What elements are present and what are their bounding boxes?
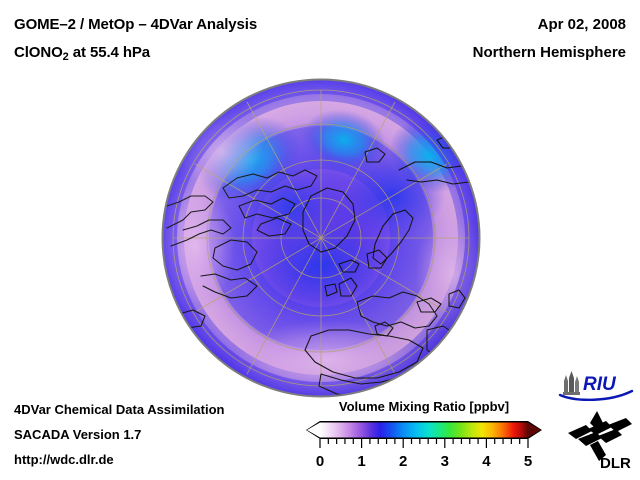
footer-line-url[interactable]: http://wdc.dlr.de [14,452,114,467]
riu-towers-icon [563,371,580,395]
riu-logo-svg: RIU [558,369,634,403]
dlr-logo: DLR [566,409,636,471]
colorbar-tick-label: 0 [316,453,324,470]
colorbar-title: Volume Mixing Ratio [ppbv] [304,399,544,414]
colorbar-left-arrow [307,423,320,438]
dlr-mark-icon [568,411,632,461]
globe-svg [161,78,481,398]
colorbar-tick-label: 5 [524,453,532,470]
riu-logo: RIU [558,369,634,403]
footer-line-version: SACADA Version 1.7 [14,427,141,442]
globe-map [161,78,481,398]
species-name: ClONO [14,44,63,61]
hemisphere-label: Northern Hemisphere [473,44,626,61]
colorbar: Volume Mixing Ratio [ppbv] 012345 [304,399,544,475]
page-title: GOME–2 / MetOp – 4DVar Analysis [14,16,257,33]
dlr-logo-svg: DLR [566,409,636,471]
species-subscript: 2 [63,51,69,63]
globe-shading [163,80,479,396]
colorbar-right-arrow [528,423,541,438]
colorbar-tick-label: 4 [482,453,491,470]
colorbar-tick-labels: 012345 [316,453,532,470]
species-level-label: ClONO2 at 55.4 hPa [14,44,150,61]
dlr-wordmark: DLR [600,455,631,471]
colorbar-tick-label: 1 [357,453,365,470]
colorbar-gradient-bar [320,423,528,438]
footer-line-assimilation: 4DVar Chemical Data Assimilation [14,402,225,417]
species-level: at 55.4 hPa [69,44,150,61]
colorbar-tick-label: 3 [441,453,449,470]
colorbar-ticks [320,439,528,448]
date-label: Apr 02, 2008 [538,16,626,33]
colorbar-svg: 012345 [304,419,544,475]
riu-wordmark: RIU [583,374,617,395]
visualization-page: GOME–2 / MetOp – 4DVar Analysis ClONO2 a… [0,0,640,480]
colorbar-tick-label: 2 [399,453,407,470]
